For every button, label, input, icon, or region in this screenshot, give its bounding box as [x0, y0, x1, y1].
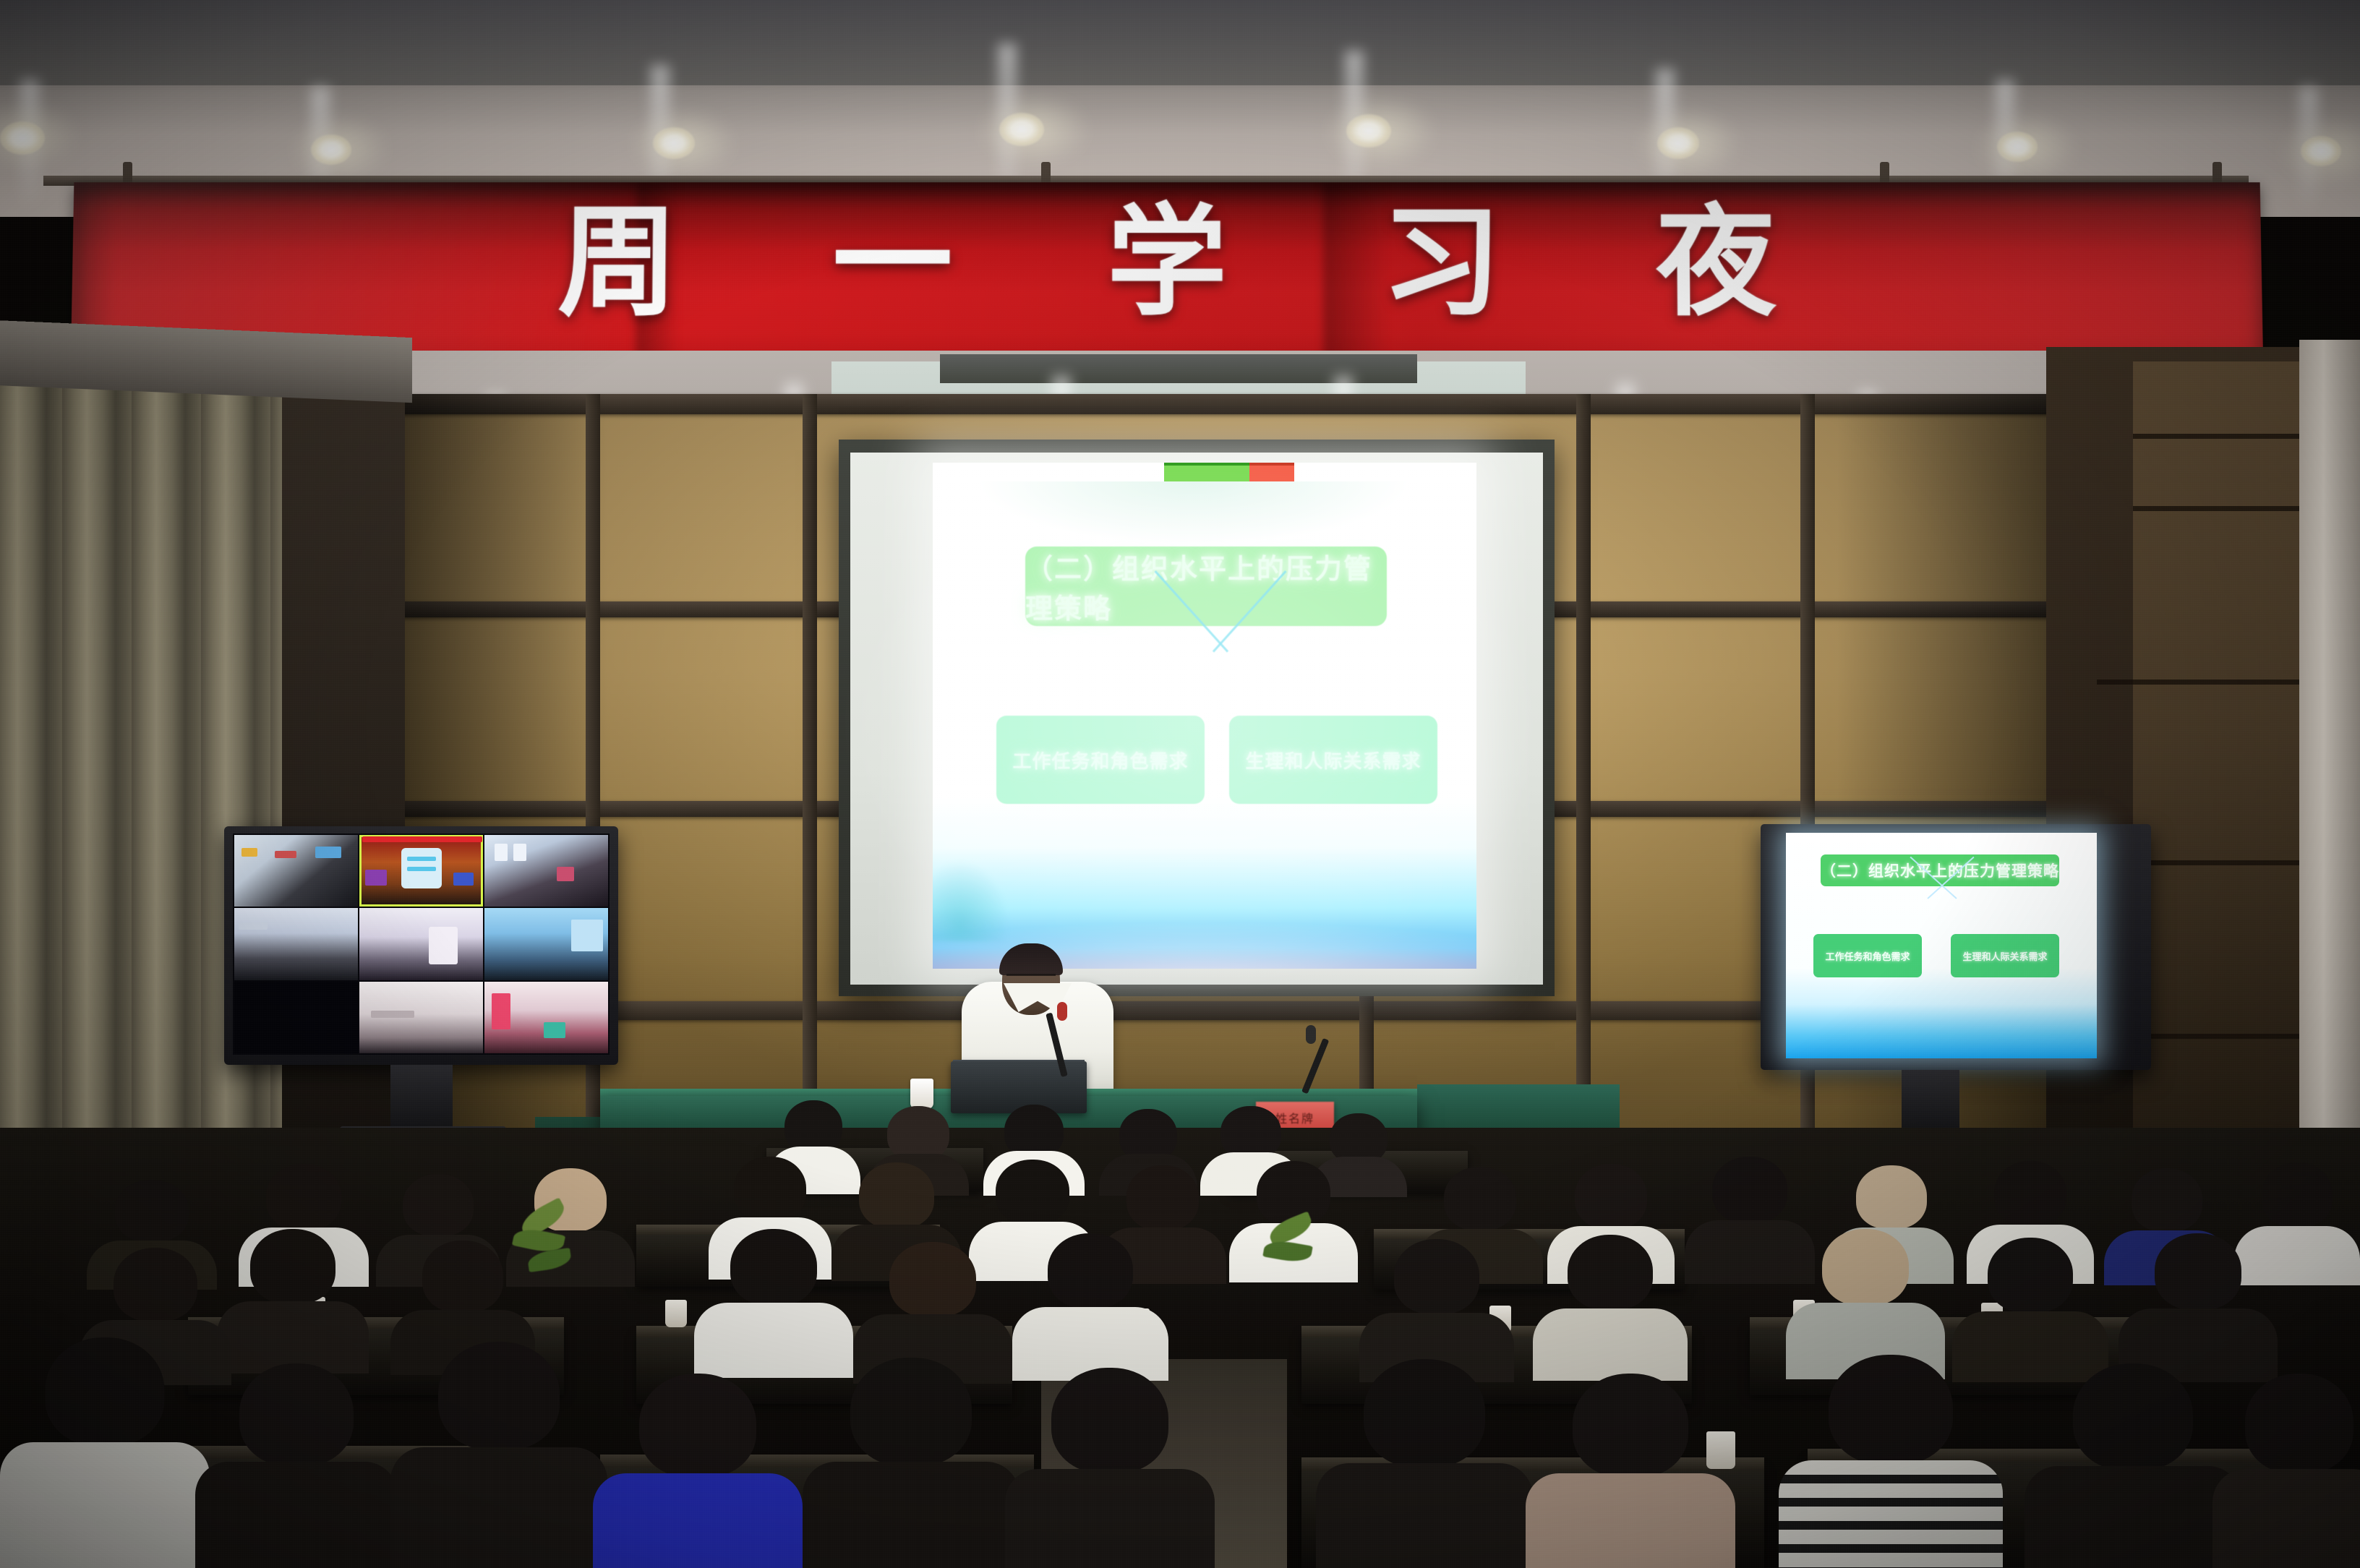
wall-strip — [390, 394, 2068, 414]
downlight — [1997, 132, 2038, 162]
potted-plant — [1258, 1209, 1345, 1317]
downlight — [0, 121, 45, 155]
right-wood-panel — [2133, 361, 2314, 1171]
slide-box-left: 工作任务和角色需求 — [996, 716, 1205, 804]
audience-person — [195, 1363, 398, 1568]
glasses-icon — [1006, 974, 1056, 982]
audience-person — [2025, 1363, 2241, 1568]
slide-box-right: 生理和人际关系需求 — [1229, 716, 1437, 804]
multiview-tile[interactable] — [359, 908, 483, 980]
slide-tab-green — [1164, 463, 1249, 481]
downlight — [311, 134, 351, 165]
audience-person — [2119, 1233, 2278, 1382]
right-monitor-screen[interactable]: （二）组织水平上的压力管理策略 工作任务和角色需求 生理和人际关系需求 — [1786, 833, 2097, 1058]
audience-person — [217, 1229, 369, 1374]
downlight — [999, 113, 1044, 146]
downlight — [2301, 136, 2341, 166]
slide-tab-orange — [1249, 463, 1294, 481]
multiview-tile-active[interactable] — [359, 835, 483, 907]
audience-person — [1779, 1355, 2003, 1568]
audience-person — [1316, 1359, 1533, 1568]
right-monitor-slide-title: （二）组织水平上的压力管理策略 — [1821, 854, 2059, 886]
microphone-head — [1057, 1002, 1067, 1021]
audience-person — [1005, 1368, 1215, 1568]
audience-person — [1012, 1233, 1168, 1381]
multiview-tile[interactable] — [484, 982, 608, 1053]
lecture-hall-photo: 周 一 学 习 夜 — [0, 0, 2360, 1568]
multiview-tile[interactable] — [484, 835, 608, 907]
slide-browser-tabs — [1164, 463, 1294, 481]
downlight — [1346, 114, 1391, 147]
right-wall-edge — [2299, 340, 2360, 1193]
audience-person — [2212, 1374, 2360, 1568]
audience-person — [1526, 1374, 1735, 1568]
slide-background-plant — [933, 862, 1008, 941]
audience-person — [0, 1337, 210, 1568]
projected-slide: （二）组织水平上的压力管理策略 工作任务和角色需求 生理和人际关系需求 — [933, 463, 1476, 969]
multiview-tile[interactable] — [234, 982, 358, 1053]
audience-person — [593, 1374, 803, 1568]
water-cup — [910, 1079, 933, 1109]
wall-vertical-strip — [803, 394, 817, 1175]
audience-person — [803, 1358, 1019, 1568]
banner-title: 周 一 学 习 夜 — [72, 194, 2263, 332]
audience-person — [1533, 1235, 1688, 1381]
audience-person — [694, 1229, 853, 1378]
multiview-tile[interactable] — [234, 908, 358, 980]
ceiling-dark-band — [0, 0, 2360, 85]
right-monitor-stand — [1902, 1070, 1959, 1136]
multiview-tile[interactable] — [484, 908, 608, 980]
slide-title-box: （二）组织水平上的压力管理策略 — [1025, 547, 1387, 626]
downlight — [653, 127, 695, 159]
microphone-head — [1306, 1025, 1316, 1044]
wood-panel-line — [2097, 680, 2314, 685]
downlight — [1657, 127, 1699, 159]
right-monitor-box-right: 生理和人际关系需求 — [1951, 934, 2059, 977]
left-monitor-stand — [390, 1065, 453, 1134]
wood-panel-line — [2133, 434, 2314, 439]
right-monitor-box-left: 工作任务和角色需求 — [1813, 934, 1922, 977]
audience-person — [390, 1342, 607, 1568]
water-cup — [665, 1300, 687, 1327]
wall-vertical-strip — [1576, 394, 1591, 1175]
wood-panel-line — [2133, 506, 2314, 511]
multiview-tile[interactable] — [359, 982, 483, 1053]
left-monitor-multiview[interactable] — [233, 834, 610, 1055]
multiview-tile[interactable] — [234, 835, 358, 907]
